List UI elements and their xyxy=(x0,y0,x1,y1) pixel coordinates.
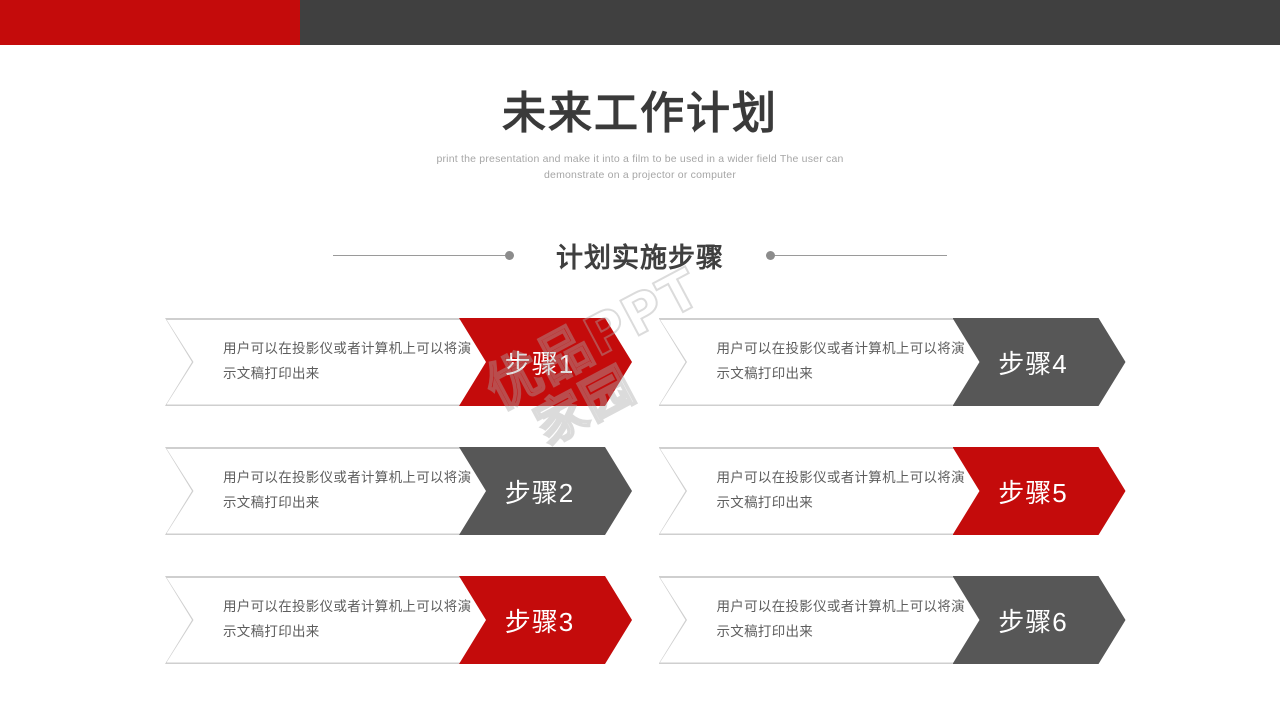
step-row: 用户可以在投影仪或者计算机上可以将演示文稿打印出来 步骤2 用户可以在投影仪或者… xyxy=(165,447,1125,535)
step-item-3[interactable]: 用户可以在投影仪或者计算机上可以将演示文稿打印出来 步骤3 xyxy=(165,576,632,664)
section-rule-left-line xyxy=(333,255,505,256)
step-item-6[interactable]: 用户可以在投影仪或者计算机上可以将演示文稿打印出来 步骤6 xyxy=(659,576,1126,664)
section-heading: 计划实施步骤 xyxy=(0,232,1280,278)
top-decoration-bar xyxy=(0,0,1280,45)
title-block: 未来工作计划 print the presentation and make i… xyxy=(0,88,1280,183)
step-badge-label: 步骤4 xyxy=(998,344,1067,381)
section-rule-left xyxy=(333,251,514,260)
step-description: 用户可以在投影仪或者计算机上可以将演示文稿打印出来 xyxy=(717,447,967,535)
step-description: 用户可以在投影仪或者计算机上可以将演示文稿打印出来 xyxy=(717,318,967,406)
step-item-2[interactable]: 用户可以在投影仪或者计算机上可以将演示文稿打印出来 步骤2 xyxy=(165,447,632,535)
step-badge-label: 步骤1 xyxy=(505,344,574,381)
steps-grid: 用户可以在投影仪或者计算机上可以将演示文稿打印出来 步骤1 用户可以在投影仪或者… xyxy=(165,318,1125,664)
step-badge-label: 步骤3 xyxy=(505,602,574,639)
top-bar-dark-block xyxy=(300,0,1280,45)
top-bar-red-block xyxy=(0,0,300,45)
step-badge-label: 步骤2 xyxy=(505,473,574,510)
section-rule-right-line xyxy=(775,255,947,256)
step-badge-label: 步骤5 xyxy=(998,473,1067,510)
step-description: 用户可以在投影仪或者计算机上可以将演示文稿打印出来 xyxy=(717,576,967,664)
page-subtitle: print the presentation and make it into … xyxy=(425,151,855,184)
step-item-4[interactable]: 用户可以在投影仪或者计算机上可以将演示文稿打印出来 步骤4 xyxy=(659,318,1126,406)
step-badge-label: 步骤6 xyxy=(998,602,1067,639)
step-item-1[interactable]: 用户可以在投影仪或者计算机上可以将演示文稿打印出来 步骤1 xyxy=(165,318,632,406)
section-rule-left-dot-icon xyxy=(505,251,514,260)
section-rule-right xyxy=(766,251,947,260)
section-rule-right-dot-icon xyxy=(766,251,775,260)
step-row: 用户可以在投影仪或者计算机上可以将演示文稿打印出来 步骤3 用户可以在投影仪或者… xyxy=(165,576,1125,664)
page-title: 未来工作计划 xyxy=(0,88,1280,141)
step-item-5[interactable]: 用户可以在投影仪或者计算机上可以将演示文稿打印出来 步骤5 xyxy=(659,447,1126,535)
step-description: 用户可以在投影仪或者计算机上可以将演示文稿打印出来 xyxy=(223,576,473,664)
page-subtitle-line-1: print the presentation and make it into … xyxy=(436,153,822,165)
section-title: 计划实施步骤 xyxy=(556,236,724,275)
step-row: 用户可以在投影仪或者计算机上可以将演示文稿打印出来 步骤1 用户可以在投影仪或者… xyxy=(165,318,1125,406)
step-description: 用户可以在投影仪或者计算机上可以将演示文稿打印出来 xyxy=(223,318,473,406)
step-description: 用户可以在投影仪或者计算机上可以将演示文稿打印出来 xyxy=(223,447,473,535)
